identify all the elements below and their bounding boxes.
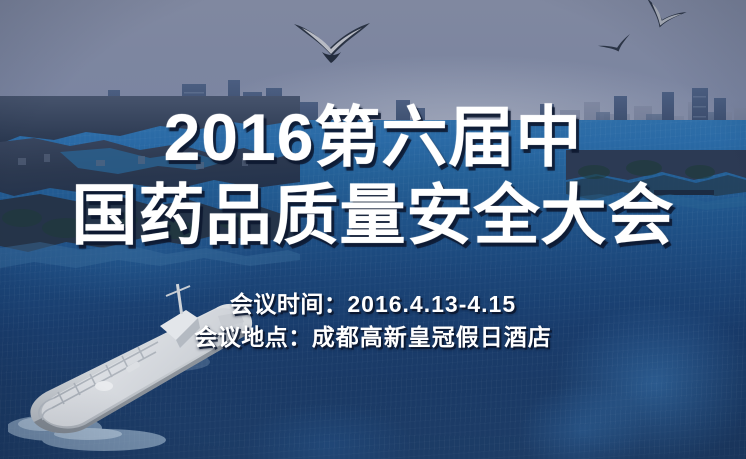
seagull-icon	[292, 18, 372, 64]
conference-banner: 2016第六届中 国药品质量安全大会 会议时间：2016.4.13-4.15 会…	[0, 0, 746, 459]
boat-vessel	[8, 282, 268, 452]
right-shoreline	[566, 150, 746, 230]
left-coastline	[0, 96, 300, 276]
